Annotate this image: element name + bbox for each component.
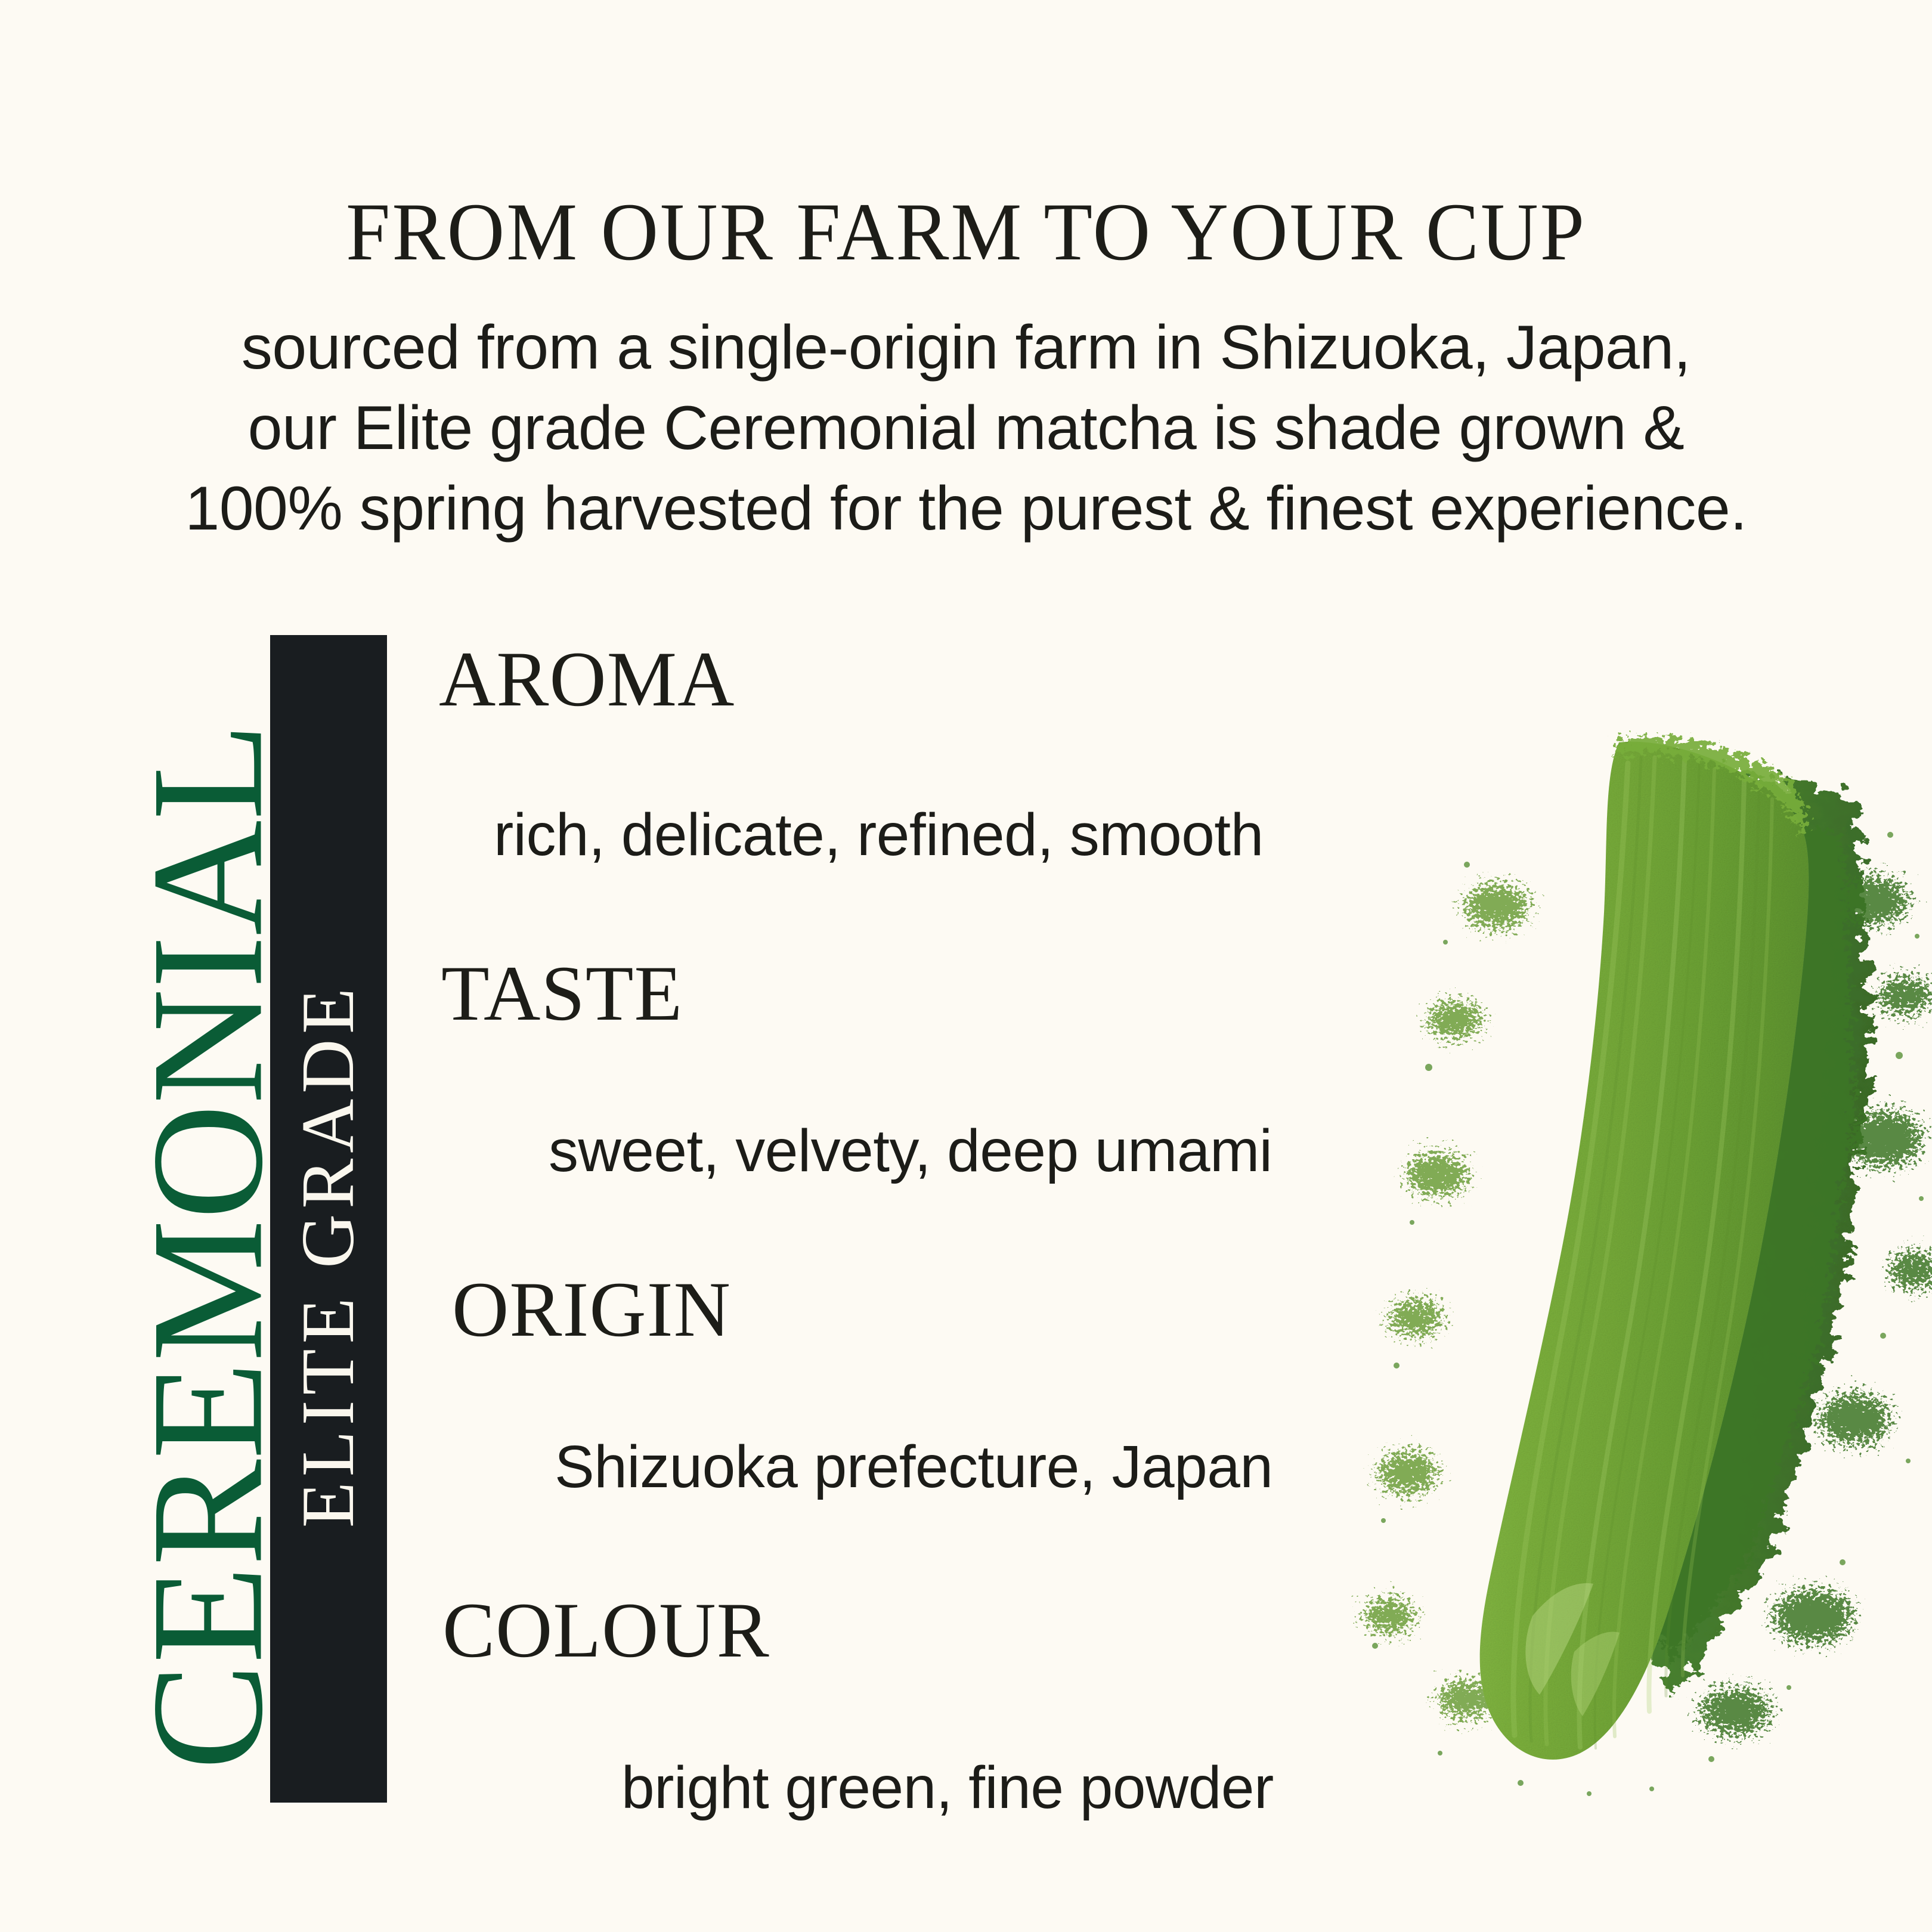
spec-row-colour: COLOUR bright green, fine powder (0, 1591, 1515, 1818)
spec-row-origin: ORIGIN Shizuoka prefecture, Japan (0, 1270, 1515, 1497)
spec-row-taste: TASTE sweet, velvety, deep umami (0, 954, 1515, 1181)
intro-paragraph: sourced from a single-origin farm in Shi… (107, 308, 1825, 550)
spec-title-origin: ORIGIN (452, 1270, 1515, 1349)
intro-line-2: our Elite grade Ceremonial matcha is sha… (107, 388, 1825, 469)
spec-title-aroma: AROMA (439, 640, 1515, 719)
spec-description-origin: Shizuoka prefecture, Japan (555, 1437, 1515, 1497)
spec-title-taste: TASTE (441, 954, 1515, 1033)
spec-description-colour: bright green, fine powder (621, 1758, 1515, 1818)
spec-description-aroma: rich, delicate, refined, smooth (494, 805, 1515, 865)
intro-line-1: sourced from a single-origin farm in Shi… (107, 308, 1825, 388)
page-title: FROM OUR FARM TO YOUR CUP (29, 191, 1903, 273)
spec-row-aroma: AROMA rich, delicate, refined, smooth (0, 640, 1515, 865)
intro-line-3: 100% spring harvested for the purest & f… (107, 469, 1825, 549)
spec-description-taste: sweet, velvety, deep umami (549, 1121, 1515, 1181)
matcha-product-info-card: FROM OUR FARM TO YOUR CUP sourced from a… (0, 0, 1932, 1932)
spec-title-colour: COLOUR (442, 1591, 1515, 1670)
